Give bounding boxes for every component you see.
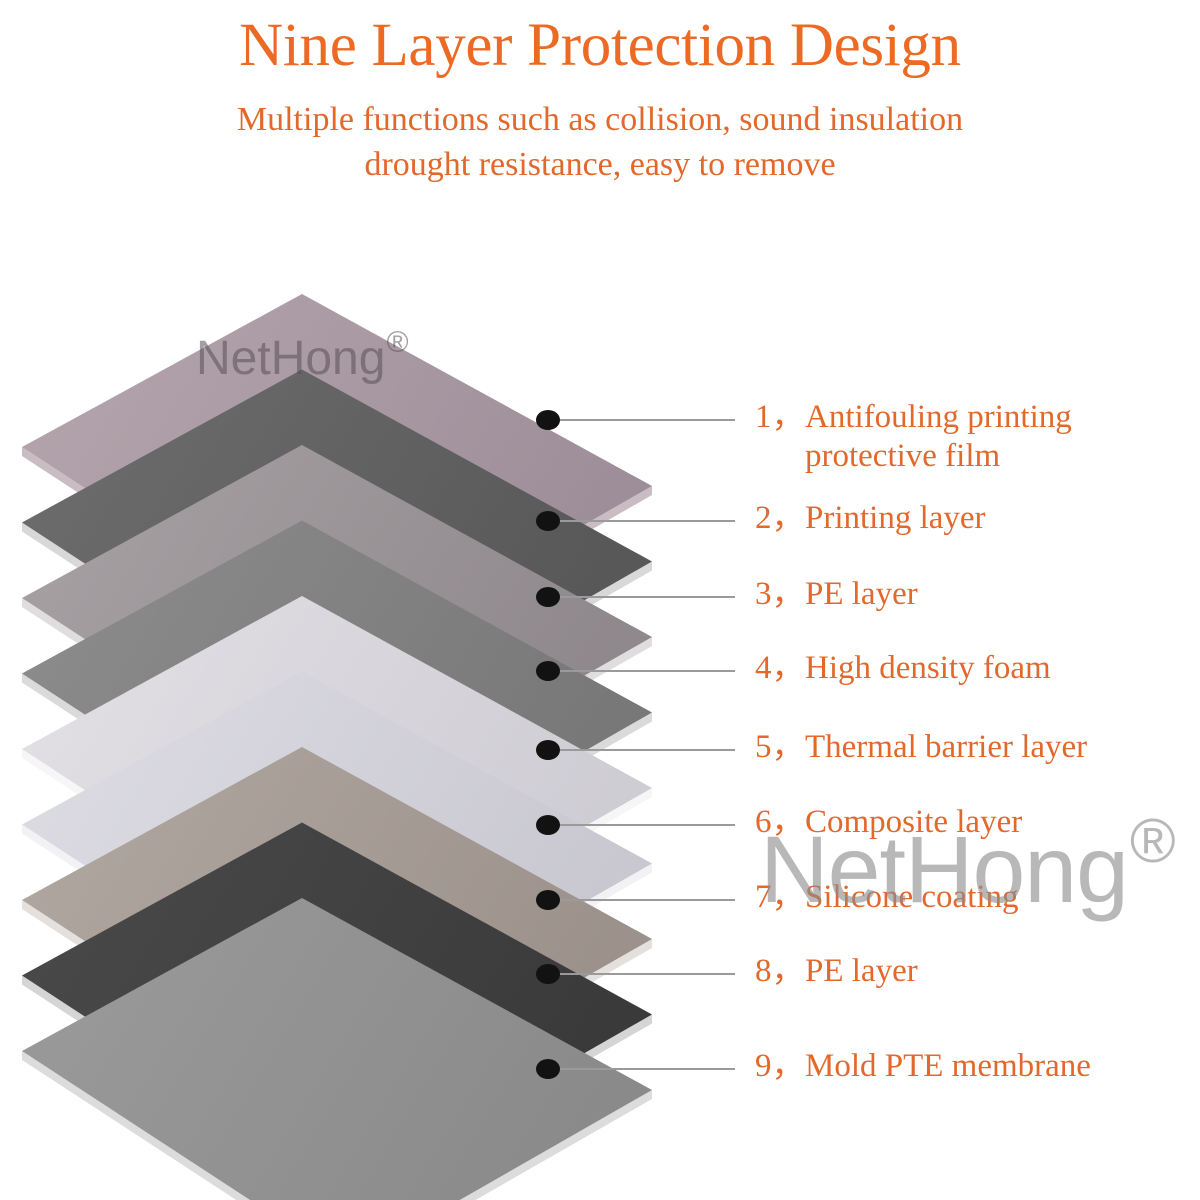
layer-label-number: 5， [755, 728, 805, 767]
layer-label-number: 9， [755, 1047, 805, 1086]
page-root: Nine Layer Protection Design Multiple fu… [0, 0, 1200, 1200]
layer-label-number: 3， [755, 575, 805, 614]
layer-label-text: Thermal barrier layer [805, 728, 1087, 767]
layer-label-text: Mold PTE membrane [805, 1047, 1091, 1086]
layer-label-5[interactable]: 5，Thermal barrier layer [755, 728, 1087, 767]
layer-label-1[interactable]: 1，Antifouling printing protective film [755, 398, 1200, 476]
layer-label-number: 6， [755, 803, 805, 842]
layer-label-text: Printing layer [805, 499, 986, 538]
layer-label-3[interactable]: 3，PE layer [755, 575, 918, 614]
layer-label-text: Antifouling printing protective film [805, 398, 1200, 476]
layer-label-9[interactable]: 9，Mold PTE membrane [755, 1047, 1091, 1086]
layer-label-text: PE layer [805, 575, 918, 614]
layer-label-number: 2， [755, 499, 805, 538]
layer-label-number: 7， [755, 878, 805, 917]
layer-label-number: 4， [755, 649, 805, 688]
layer-label-text: PE layer [805, 952, 918, 991]
layer-label-number: 8， [755, 952, 805, 991]
layer-label-text: Composite layer [805, 803, 1022, 842]
layer-label-text: High density foam [805, 649, 1051, 688]
layer-label-4[interactable]: 4，High density foam [755, 649, 1051, 688]
layer-label-list: 1，Antifouling printing protective film2，… [0, 0, 1200, 1200]
layer-label-6[interactable]: 6，Composite layer [755, 803, 1022, 842]
layer-label-8[interactable]: 8，PE layer [755, 952, 918, 991]
layer-label-text: Silicone coating [805, 878, 1019, 917]
layer-label-number: 1， [755, 398, 805, 437]
layer-label-7[interactable]: 7，Silicone coating [755, 878, 1019, 917]
layer-label-2[interactable]: 2，Printing layer [755, 499, 986, 538]
